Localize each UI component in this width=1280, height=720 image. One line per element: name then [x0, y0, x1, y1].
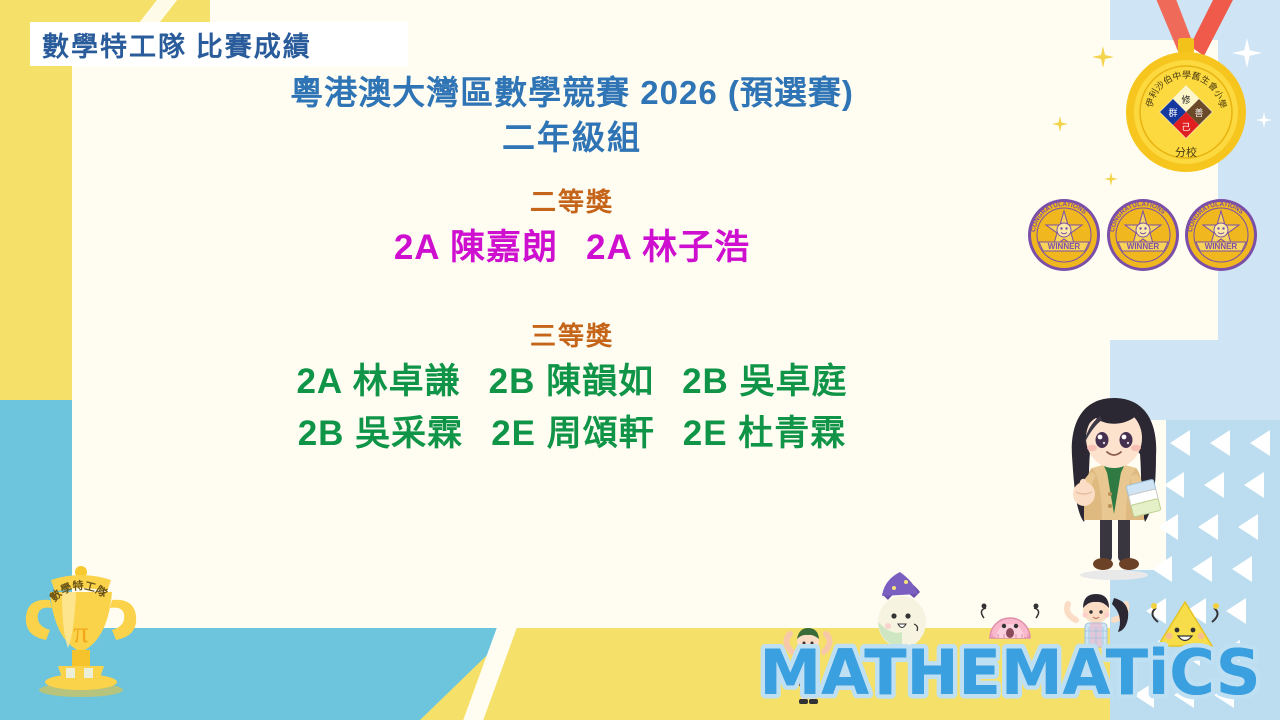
award-label-second: 二等獎	[72, 186, 1072, 220]
winner-name: 2E 杜青霖	[683, 410, 847, 458]
main-content: 粵港澳大灣區數學競賽 2026 (預選賽) 二年級組 二等獎 2A 陳嘉朗2A …	[72, 70, 1072, 458]
mathematics-wordart: MATHEMATiCS MATHEMATiCS	[760, 568, 1260, 718]
award-names-second-row-1: 2A 陳嘉朗2A 林子浩	[72, 224, 1072, 272]
award-names-third-row-1: 2A 林卓謙2B 陳韻如2B 吳卓庭	[72, 358, 1072, 406]
page-title: 粵港澳大灣區數學競賽 2026 (預選賽)	[72, 70, 1072, 117]
winner-name: 2E 周頌軒	[491, 410, 655, 458]
medal-word-shan: 善	[1194, 107, 1203, 118]
slide-canvas: /*triangles injected below*/ 伊利沙伯中學舊生會小學…	[0, 0, 1280, 720]
award-block-third-prize: 三等獎 2A 林卓謙2B 陳韻如2B 吳卓庭 2B 吳采霖2E 周頌軒2E 杜青…	[72, 320, 1072, 458]
winner-name: 2B 吳采霖	[298, 410, 463, 458]
sparkle-icon	[1256, 112, 1272, 128]
sparkle-icon	[1052, 116, 1068, 132]
badge-ribbon-text: WINNER	[1048, 242, 1081, 251]
award-label-third: 三等獎	[72, 320, 1072, 354]
header-banner: 數學特工隊 比賽成績	[30, 22, 408, 66]
page-subtitle: 二年級組	[72, 117, 1072, 160]
medal-bottom-text: 分校	[1175, 145, 1197, 159]
gold-medal-icon: 伊利沙伯中學舊生會小學 修 群 善 己 分校	[1116, 0, 1256, 179]
triangle-glyph	[1198, 514, 1218, 540]
triangle-glyph	[1238, 514, 1258, 540]
award-block-second-prize: 二等獎 2A 陳嘉朗2A 林子浩	[72, 186, 1072, 272]
triangle-glyph	[1244, 472, 1264, 498]
winner-name: 2A 林卓謙	[296, 358, 460, 406]
triangle-glyph	[1204, 472, 1224, 498]
congratulations-winner-badge-icon: WINNER CONGRATULATIONS	[1027, 198, 1101, 272]
triangle-glyph	[1250, 430, 1270, 456]
badge-ribbon-text: WINNER	[1126, 242, 1159, 251]
mathematics-word-text-fill: MATHEMATiCS	[760, 636, 1260, 709]
medal-word-qun: 群	[1168, 107, 1177, 118]
sparkle-icon	[1092, 46, 1114, 68]
award-names-third-row-2: 2B 吳采霖2E 周頌軒2E 杜青霖	[72, 410, 1072, 458]
header-banner-title: 數學特工隊 比賽成績	[30, 25, 312, 64]
winner-name: 2B 陳韻如	[489, 358, 654, 406]
congratulations-winner-badge-icon: WINNER CONGRATULATIONS	[1106, 198, 1180, 272]
congratulations-winner-badge-icon: WINNER CONGRATULATIONS	[1184, 198, 1258, 272]
badge-ribbon-text: WINNER	[1205, 242, 1238, 251]
trophy-pi-symbol: π	[73, 616, 88, 649]
student-girl-character-icon	[1044, 382, 1184, 582]
triangle-glyph	[1210, 430, 1230, 456]
winner-name: 2A 林子浩	[586, 224, 750, 272]
winner-name: 2A 陳嘉朗	[394, 224, 558, 272]
trophy-icon: 數學特工隊 π	[6, 558, 156, 698]
winner-name: 2B 吳卓庭	[682, 358, 847, 406]
medal-word-xiu: 修	[1181, 94, 1190, 105]
winner-badge-stack: WINNER CONGRATULATIONS WINNER CONGRATULA…	[1027, 198, 1258, 289]
medal-word-ji: 己	[1181, 122, 1190, 132]
